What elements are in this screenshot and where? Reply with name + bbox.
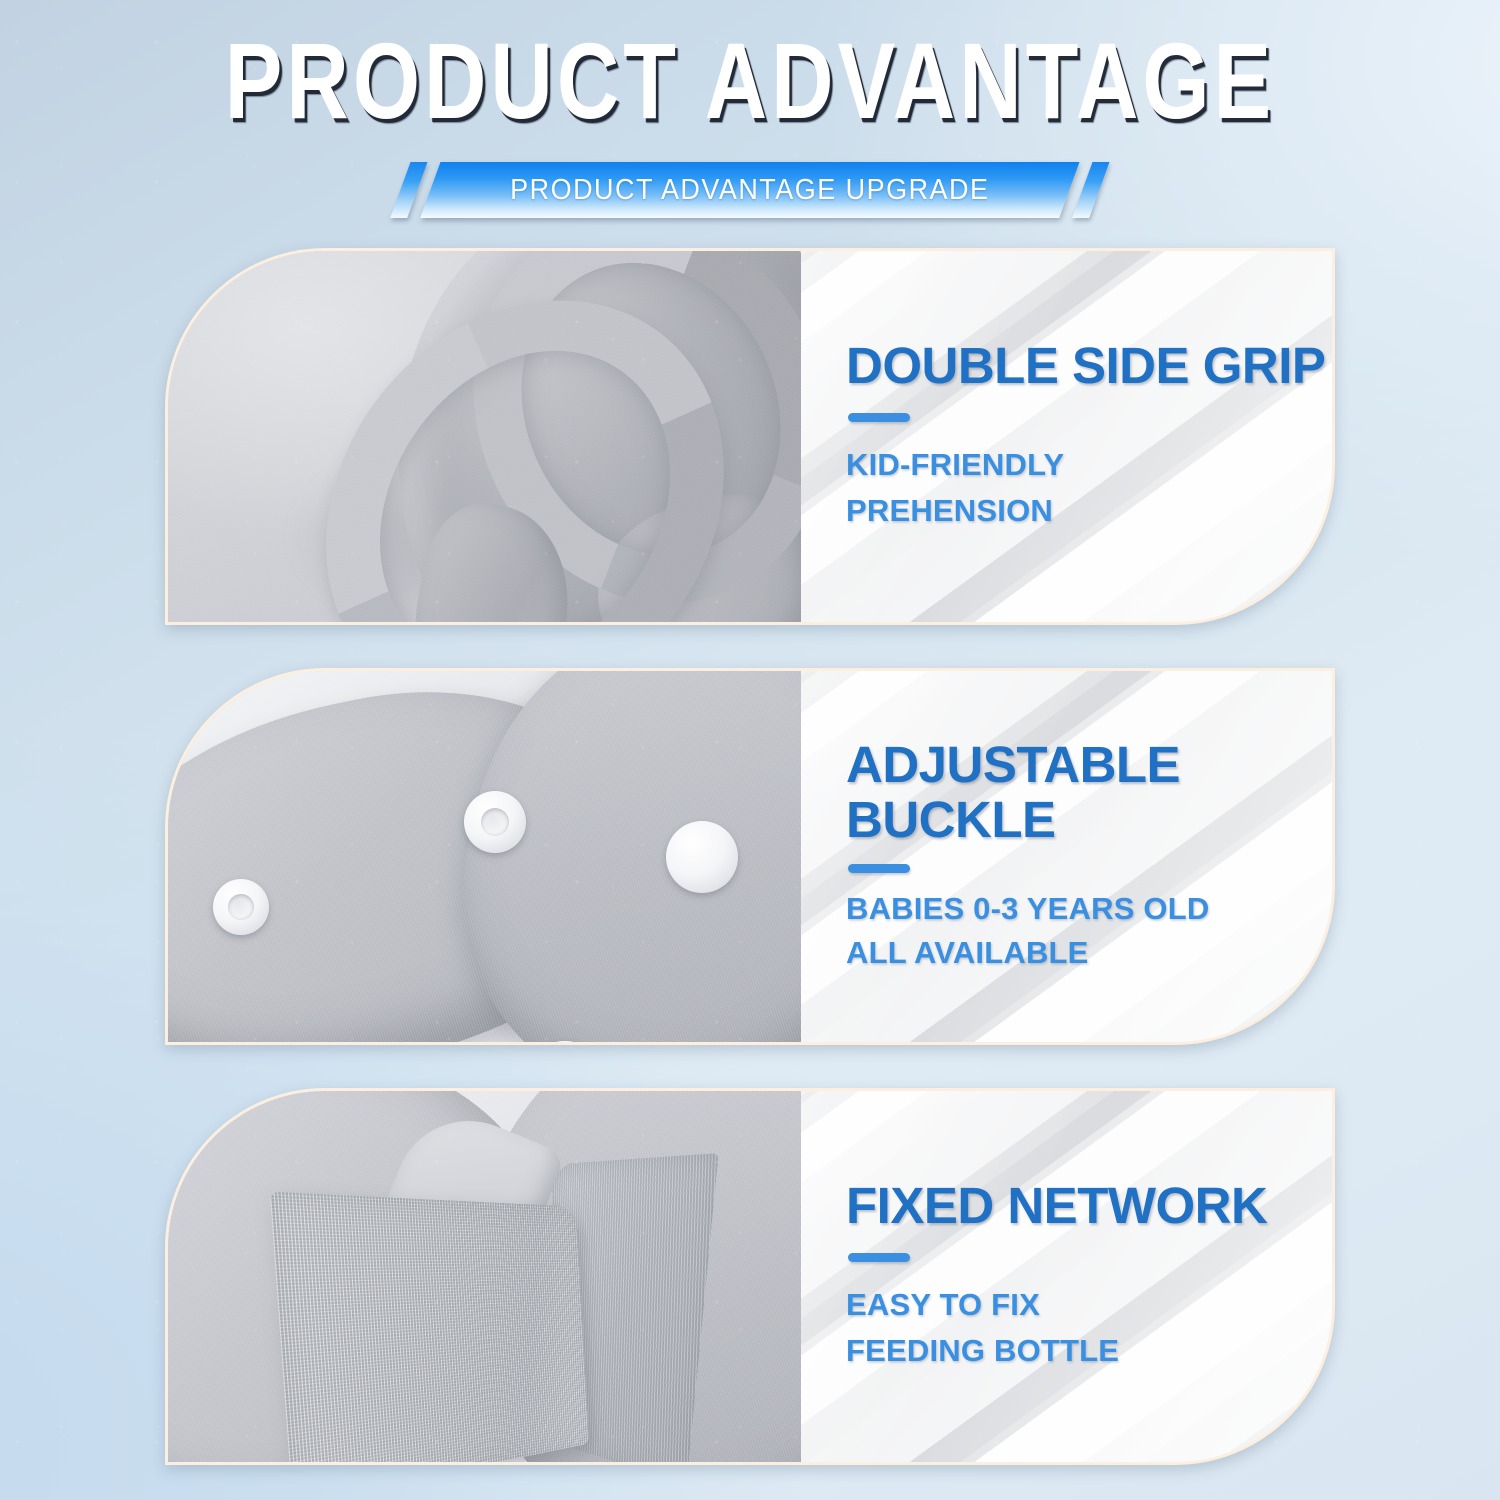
banner-parallelogram: PRODUCT ADVANTAGE UPGRADE [420, 162, 1080, 218]
fabric-texture-overlay [168, 251, 801, 622]
advantage-card-fixed-network: FIXED NETWORK EASY TO FIX FEEDING BOTTLE [165, 1088, 1335, 1465]
card-text-adjustable-buckle: ADJUSTABLE BUCKLE BABIES 0-3 YEARS OLD A… [801, 671, 1332, 1042]
banner-row: PRODUCT ADVANTAGE UPGRADE [400, 162, 1099, 218]
card-text-content: DOUBLE SIDE GRIP KID-FRIENDLY PREHENSION [801, 251, 1332, 622]
heading-divider [848, 864, 910, 873]
snap-button-icon [464, 791, 526, 853]
advantage-card-double-side-grip: DOUBLE SIDE GRIP KID-FRIENDLY PREHENSION [165, 248, 1335, 625]
card-text-content: ADJUSTABLE BUCKLE BABIES 0-3 YEARS OLD A… [801, 671, 1332, 1042]
banner-subtitle-text: PRODUCT ADVANTAGE UPGRADE [510, 174, 989, 207]
card-subtext: KID-FRIENDLY PREHENSION [846, 442, 1332, 534]
card-photo-fixed-network [168, 1091, 801, 1462]
card-text-double-side-grip: DOUBLE SIDE GRIP KID-FRIENDLY PREHENSION [801, 251, 1332, 622]
card-heading: ADJUSTABLE BUCKLE [846, 738, 1332, 847]
photo-canvas [168, 671, 801, 1042]
page-title: PRODUCT ADVANTAGE [150, 0, 1350, 136]
photo-canvas [168, 251, 801, 622]
snap-button-icon [213, 879, 269, 935]
elastic-band-shape [270, 1192, 590, 1462]
card-heading: FIXED NETWORK [846, 1179, 1332, 1234]
advantage-card-adjustable-buckle: ADJUSTABLE BUCKLE BABIES 0-3 YEARS OLD A… [165, 668, 1335, 1045]
advantage-card-list: DOUBLE SIDE GRIP KID-FRIENDLY PREHENSION [165, 248, 1335, 1465]
card-subtext: BABIES 0-3 YEARS OLD ALL AVAILABLE [846, 887, 1332, 975]
photo-canvas [168, 1091, 801, 1462]
card-heading: DOUBLE SIDE GRIP [846, 339, 1332, 394]
card-text-fixed-network: FIXED NETWORK EASY TO FIX FEEDING BOTTLE [801, 1091, 1332, 1462]
heading-divider [848, 413, 910, 422]
card-photo-adjustable-buckle [168, 671, 801, 1042]
snap-button-icon [666, 821, 738, 893]
infographic-page: PRODUCT ADVANTAGE PRODUCT ADVANTAGE UPGR… [0, 0, 1500, 1500]
card-subtext: EASY TO FIX FEEDING BOTTLE [846, 1282, 1332, 1374]
card-photo-double-side-grip [168, 251, 801, 622]
subtitle-banner: PRODUCT ADVANTAGE UPGRADE [0, 162, 1500, 224]
banner-slash-right-icon [1072, 162, 1109, 218]
header: PRODUCT ADVANTAGE PRODUCT ADVANTAGE UPGR… [0, 0, 1500, 224]
card-text-content: FIXED NETWORK EASY TO FIX FEEDING BOTTLE [801, 1091, 1332, 1462]
heading-divider [848, 1253, 910, 1262]
